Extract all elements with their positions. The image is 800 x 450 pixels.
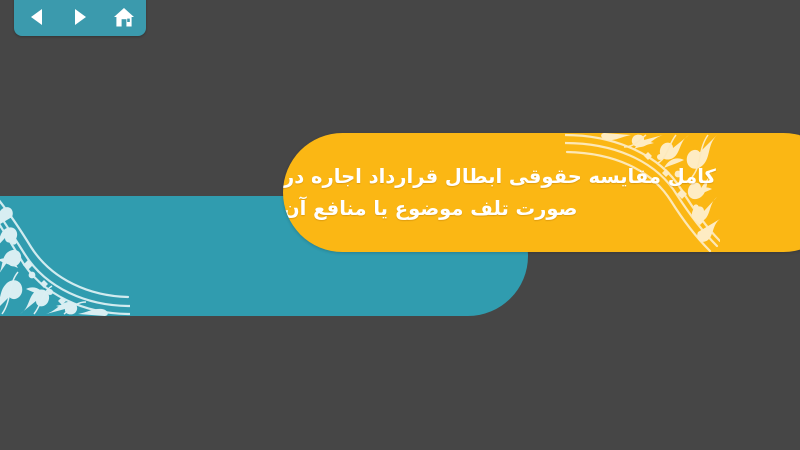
slide-title: کامل مقایسه حقوقی ابطال قرارداد اجاره در… — [283, 133, 800, 252]
previous-button[interactable] — [21, 4, 51, 30]
home-icon — [113, 7, 135, 28]
home-button[interactable] — [109, 4, 139, 30]
arabesque-ornament — [0, 196, 130, 316]
orange-title-banner: کامل مقایسه حقوقی ابطال قرارداد اجاره در… — [283, 133, 800, 252]
slide-canvas: کامل مقایسه حقوقی ابطال قرارداد اجاره در… — [0, 0, 800, 450]
left-arrow-icon — [28, 8, 45, 26]
next-button[interactable] — [65, 4, 95, 30]
right-arrow-icon — [72, 8, 89, 26]
title-line-1: کامل مقایسه حقوقی ابطال قرارداد اجاره در — [283, 161, 716, 193]
title-line-2: صورت تلف موضوع یا منافع آن — [283, 193, 577, 225]
navigation-bar — [14, 0, 146, 36]
